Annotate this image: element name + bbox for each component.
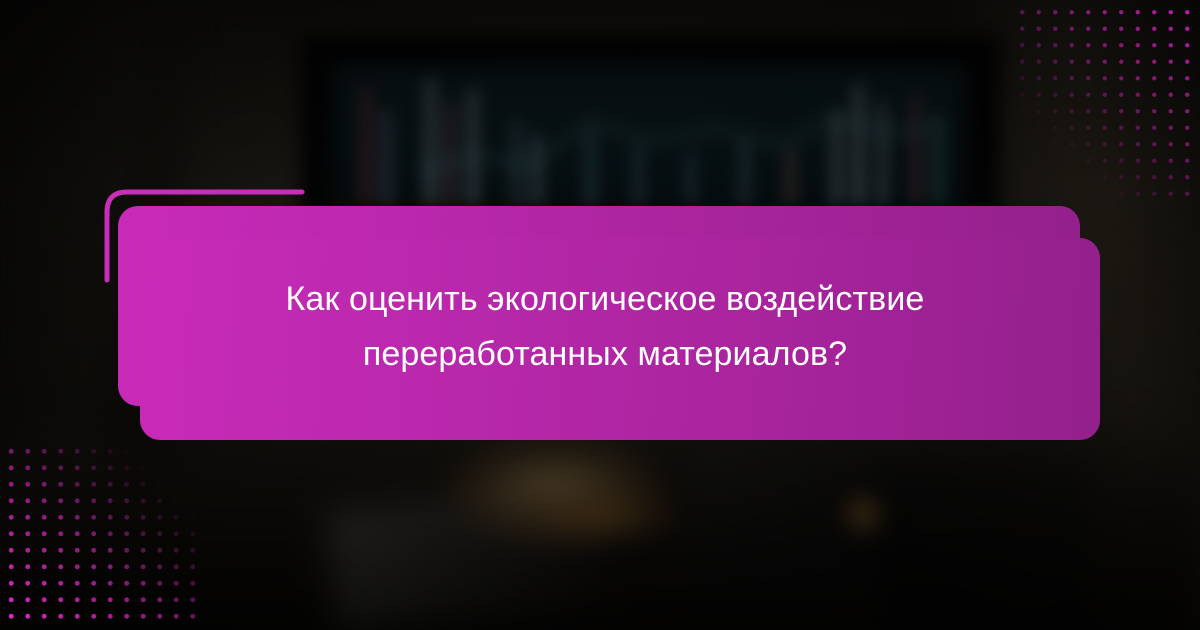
social-card-canvas: Как оценить экологическое воздействие пе… [0,0,1200,630]
headline-text: Как оценить экологическое воздействие пе… [150,272,1060,382]
